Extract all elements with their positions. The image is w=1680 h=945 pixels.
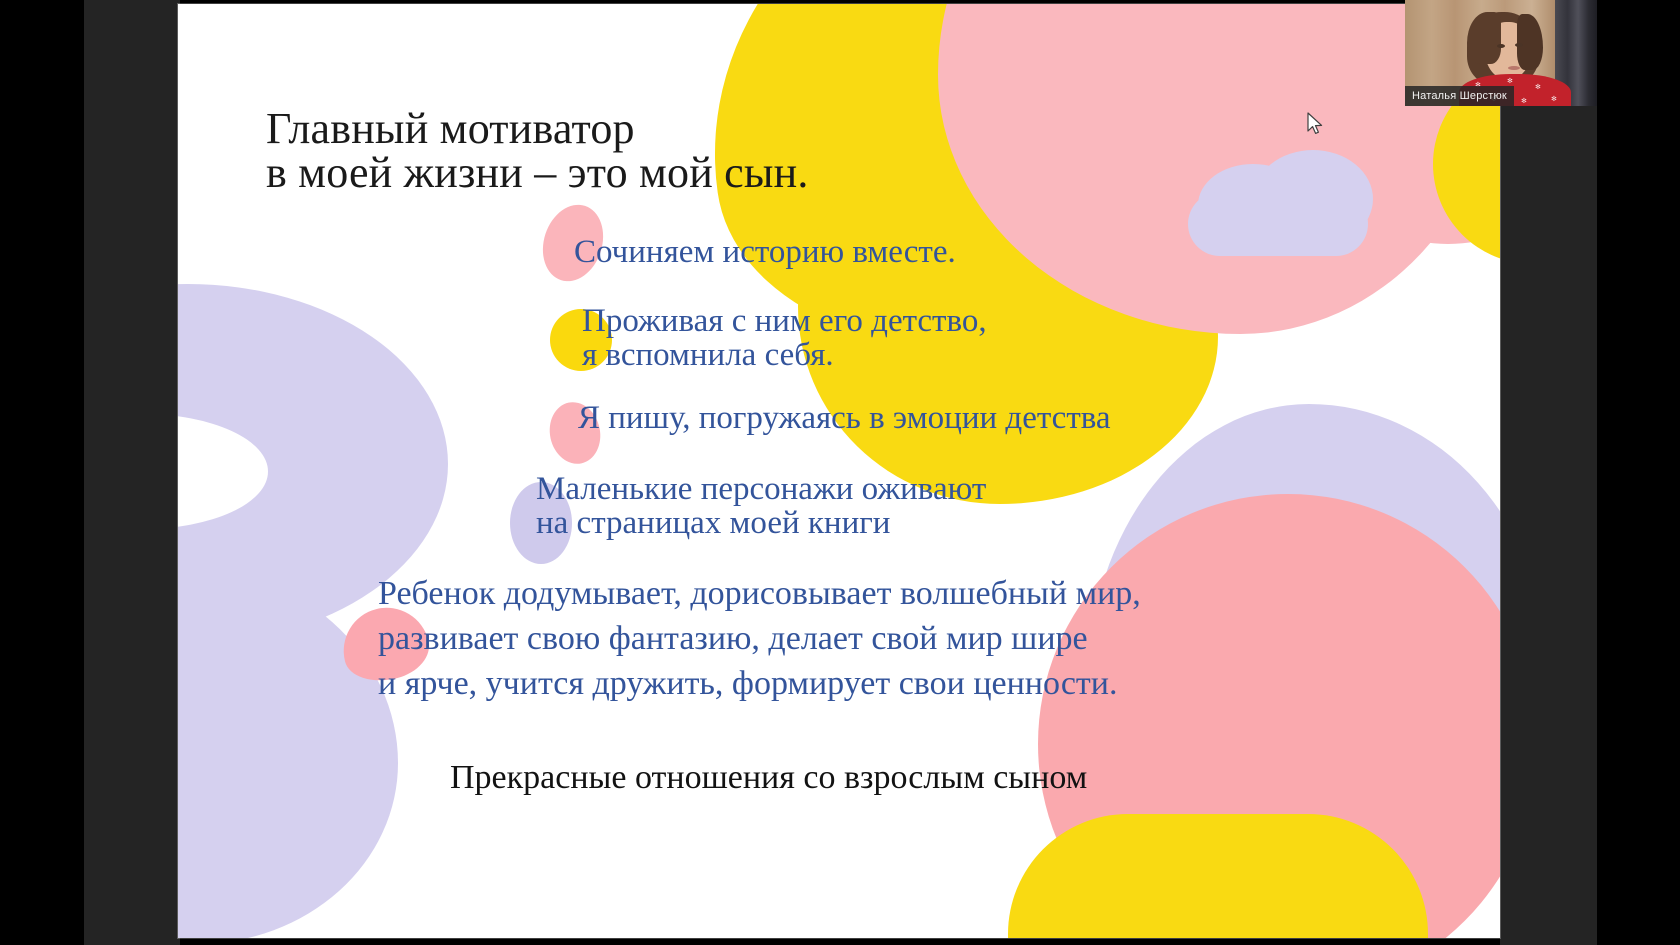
participant-mouth	[1508, 66, 1520, 70]
participant-name-label: Наталья Шерстюк	[1405, 86, 1514, 106]
participant-eye-left	[1497, 44, 1505, 48]
slide-text-container: Главный мотиватор в моей жизни – это мой…	[178, 4, 1500, 938]
presentation-slide[interactable]: Главный мотиватор в моей жизни – это мой…	[178, 4, 1500, 938]
slide-body-line-1: Сочиняем историю вместе.	[574, 236, 956, 269]
slide-body-line-3: Я пишу, погружаясь в эмоции детства	[578, 402, 1111, 435]
snowflake-icon: ✻	[1521, 98, 1527, 105]
letterbox-left	[84, 0, 180, 945]
letterbox-right	[1500, 0, 1597, 945]
slide-body-paragraph: Ребенок додумывает, дорисовывает волшебн…	[378, 572, 1141, 707]
screen-share-viewer: Главный мотиватор в моей жизни – это мой…	[0, 0, 1680, 945]
slide-body-line-2: Проживая с ним его детство, я вспомнила …	[582, 304, 987, 373]
participant-video-tile[interactable]: ✻ ✻ ✻ ✻ ✻ ✻ Наталья Шерстюк	[1405, 0, 1597, 106]
mouse-cursor	[1307, 112, 1325, 138]
participant-eye-right	[1515, 43, 1523, 47]
arrow-pointer-cursor-icon	[1307, 112, 1325, 138]
slide-title: Главный мотиватор в моей жизни – это мой…	[266, 107, 809, 195]
snowflake-icon: ✻	[1535, 84, 1541, 91]
snowflake-icon: ✻	[1507, 78, 1513, 85]
snowflake-icon: ✻	[1551, 96, 1557, 103]
slide-body-line-4: Маленькие персонажи оживают на страницах…	[536, 472, 986, 541]
slide-closing-line: Прекрасные отношения со взрослым сыном	[450, 761, 1087, 795]
